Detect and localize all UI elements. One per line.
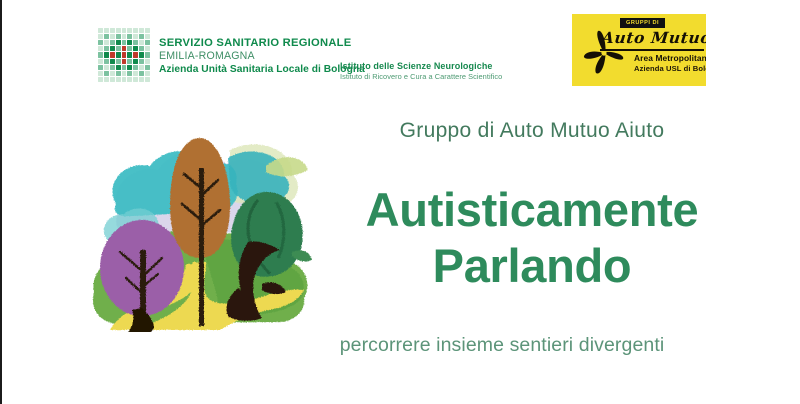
grid-cell bbox=[98, 65, 103, 70]
grid-squares-mark-icon bbox=[98, 28, 150, 82]
grid-cell bbox=[110, 77, 115, 82]
grid-cell bbox=[139, 77, 144, 82]
grid-cell bbox=[139, 71, 144, 76]
grid-cell bbox=[104, 40, 109, 45]
grid-cell bbox=[122, 71, 127, 76]
grid-cell bbox=[127, 34, 132, 39]
grid-cell bbox=[110, 65, 115, 70]
grid-cell bbox=[122, 40, 127, 45]
badge-script-title: Auto Mutuo Aiuto bbox=[601, 28, 706, 47]
grid-cell bbox=[133, 34, 138, 39]
grid-cell bbox=[145, 34, 150, 39]
grid-cell bbox=[145, 65, 150, 70]
grid-cell bbox=[145, 46, 150, 51]
ssr-logo-text: SERVIZIO SANITARIO REGIONALE EMILIA-ROMA… bbox=[159, 28, 365, 76]
grid-cell bbox=[116, 46, 121, 51]
grid-cell bbox=[122, 65, 127, 70]
auto-mutuo-aiuto-badge: GRUPPI DI Auto Mutuo Aiuto Area Metropol… bbox=[572, 14, 706, 86]
headline-line-2: Parlando bbox=[302, 238, 762, 294]
grid-cell bbox=[116, 77, 121, 82]
grid-cell bbox=[98, 34, 103, 39]
grid-cell bbox=[139, 52, 144, 57]
grid-cell bbox=[145, 77, 150, 82]
grid-cell bbox=[127, 52, 132, 57]
grid-cell bbox=[133, 65, 138, 70]
ssr-line-2: EMILIA-ROMAGNA bbox=[159, 50, 365, 63]
grid-cell bbox=[104, 77, 109, 82]
grid-cell bbox=[139, 59, 144, 64]
ssr-line-1: SERVIZIO SANITARIO REGIONALE bbox=[159, 37, 365, 50]
grid-cell bbox=[98, 77, 103, 82]
grid-cell bbox=[116, 65, 121, 70]
grid-cell bbox=[104, 28, 109, 33]
grid-cell bbox=[110, 34, 115, 39]
grid-cell bbox=[127, 59, 132, 64]
grid-cell bbox=[98, 46, 103, 51]
grid-cell bbox=[139, 34, 144, 39]
grid-cell bbox=[133, 28, 138, 33]
grid-cell bbox=[133, 52, 138, 57]
grid-cell bbox=[127, 77, 132, 82]
grid-cell bbox=[116, 28, 121, 33]
isn-line-1: Istituto delle Scienze Neurologiche bbox=[340, 61, 502, 72]
orange-tree-trunk bbox=[199, 168, 204, 326]
grid-cell bbox=[133, 59, 138, 64]
grid-cell bbox=[145, 40, 150, 45]
badge-divider bbox=[600, 49, 704, 51]
grid-cell bbox=[133, 46, 138, 51]
grid-cell bbox=[104, 52, 109, 57]
grid-cell bbox=[116, 59, 121, 64]
grid-cell bbox=[127, 71, 132, 76]
grid-cell bbox=[98, 52, 103, 57]
grid-cell bbox=[127, 40, 132, 45]
grid-cell bbox=[116, 52, 121, 57]
grid-cell bbox=[127, 28, 132, 33]
grid-cell bbox=[133, 77, 138, 82]
grid-cell bbox=[139, 40, 144, 45]
badge-line-2: Azienda USL di Bologna bbox=[634, 64, 706, 74]
grid-cell bbox=[145, 28, 150, 33]
grid-cell bbox=[145, 59, 150, 64]
grid-cell bbox=[110, 28, 115, 33]
badge-line-1: Area Metropolitana bbox=[634, 53, 706, 64]
grid-cell bbox=[98, 28, 103, 33]
istituto-scienze-neurologiche-logo: Istituto delle Scienze Neurologiche Isti… bbox=[340, 61, 502, 82]
grid-cell bbox=[104, 59, 109, 64]
poster-canvas: SERVIZIO SANITARIO REGIONALE EMILIA-ROMA… bbox=[0, 0, 800, 404]
grid-cell bbox=[122, 52, 127, 57]
grid-cell bbox=[122, 59, 127, 64]
grid-cell bbox=[145, 71, 150, 76]
grid-cell bbox=[98, 40, 103, 45]
kicker-text: Gruppo di Auto Mutuo Aiuto bbox=[332, 118, 732, 144]
grid-cell bbox=[133, 40, 138, 45]
grid-cell bbox=[110, 40, 115, 45]
page-title: Autisticamente Parlando bbox=[302, 182, 762, 294]
grid-cell bbox=[145, 52, 150, 57]
grid-cell bbox=[104, 46, 109, 51]
grid-cell bbox=[122, 77, 127, 82]
grid-cell bbox=[104, 34, 109, 39]
grid-cell bbox=[110, 46, 115, 51]
grid-cell bbox=[122, 34, 127, 39]
isn-line-2: Istituto di Ricovero e Cura a Carattere … bbox=[340, 72, 502, 82]
grid-cell bbox=[122, 46, 127, 51]
grid-cell bbox=[133, 71, 138, 76]
grid-cell bbox=[104, 71, 109, 76]
grid-cell bbox=[98, 59, 103, 64]
grid-cell bbox=[98, 71, 103, 76]
grid-cell bbox=[139, 28, 144, 33]
servizio-sanitario-regionale-logo: SERVIZIO SANITARIO REGIONALE EMILIA-ROMA… bbox=[98, 28, 365, 82]
grid-cell bbox=[110, 52, 115, 57]
grid-cell bbox=[110, 71, 115, 76]
grid-cell bbox=[116, 34, 121, 39]
watercolor-forest-path-illustration bbox=[80, 92, 320, 332]
tagline-text: percorrere insieme sentieri divergenti bbox=[302, 333, 702, 357]
grid-cell bbox=[110, 59, 115, 64]
grid-cell bbox=[127, 65, 132, 70]
grid-cell bbox=[122, 28, 127, 33]
grid-cell bbox=[139, 46, 144, 51]
grid-cell bbox=[127, 46, 132, 51]
ssr-line-3: Azienda Unità Sanitaria Locale di Bologn… bbox=[159, 63, 365, 76]
headline-line-1: Autisticamente bbox=[302, 182, 762, 238]
grid-cell bbox=[104, 65, 109, 70]
grid-cell bbox=[116, 71, 121, 76]
grid-cell bbox=[139, 65, 144, 70]
grid-cell bbox=[116, 40, 121, 45]
badge-tag: GRUPPI DI bbox=[620, 18, 665, 28]
